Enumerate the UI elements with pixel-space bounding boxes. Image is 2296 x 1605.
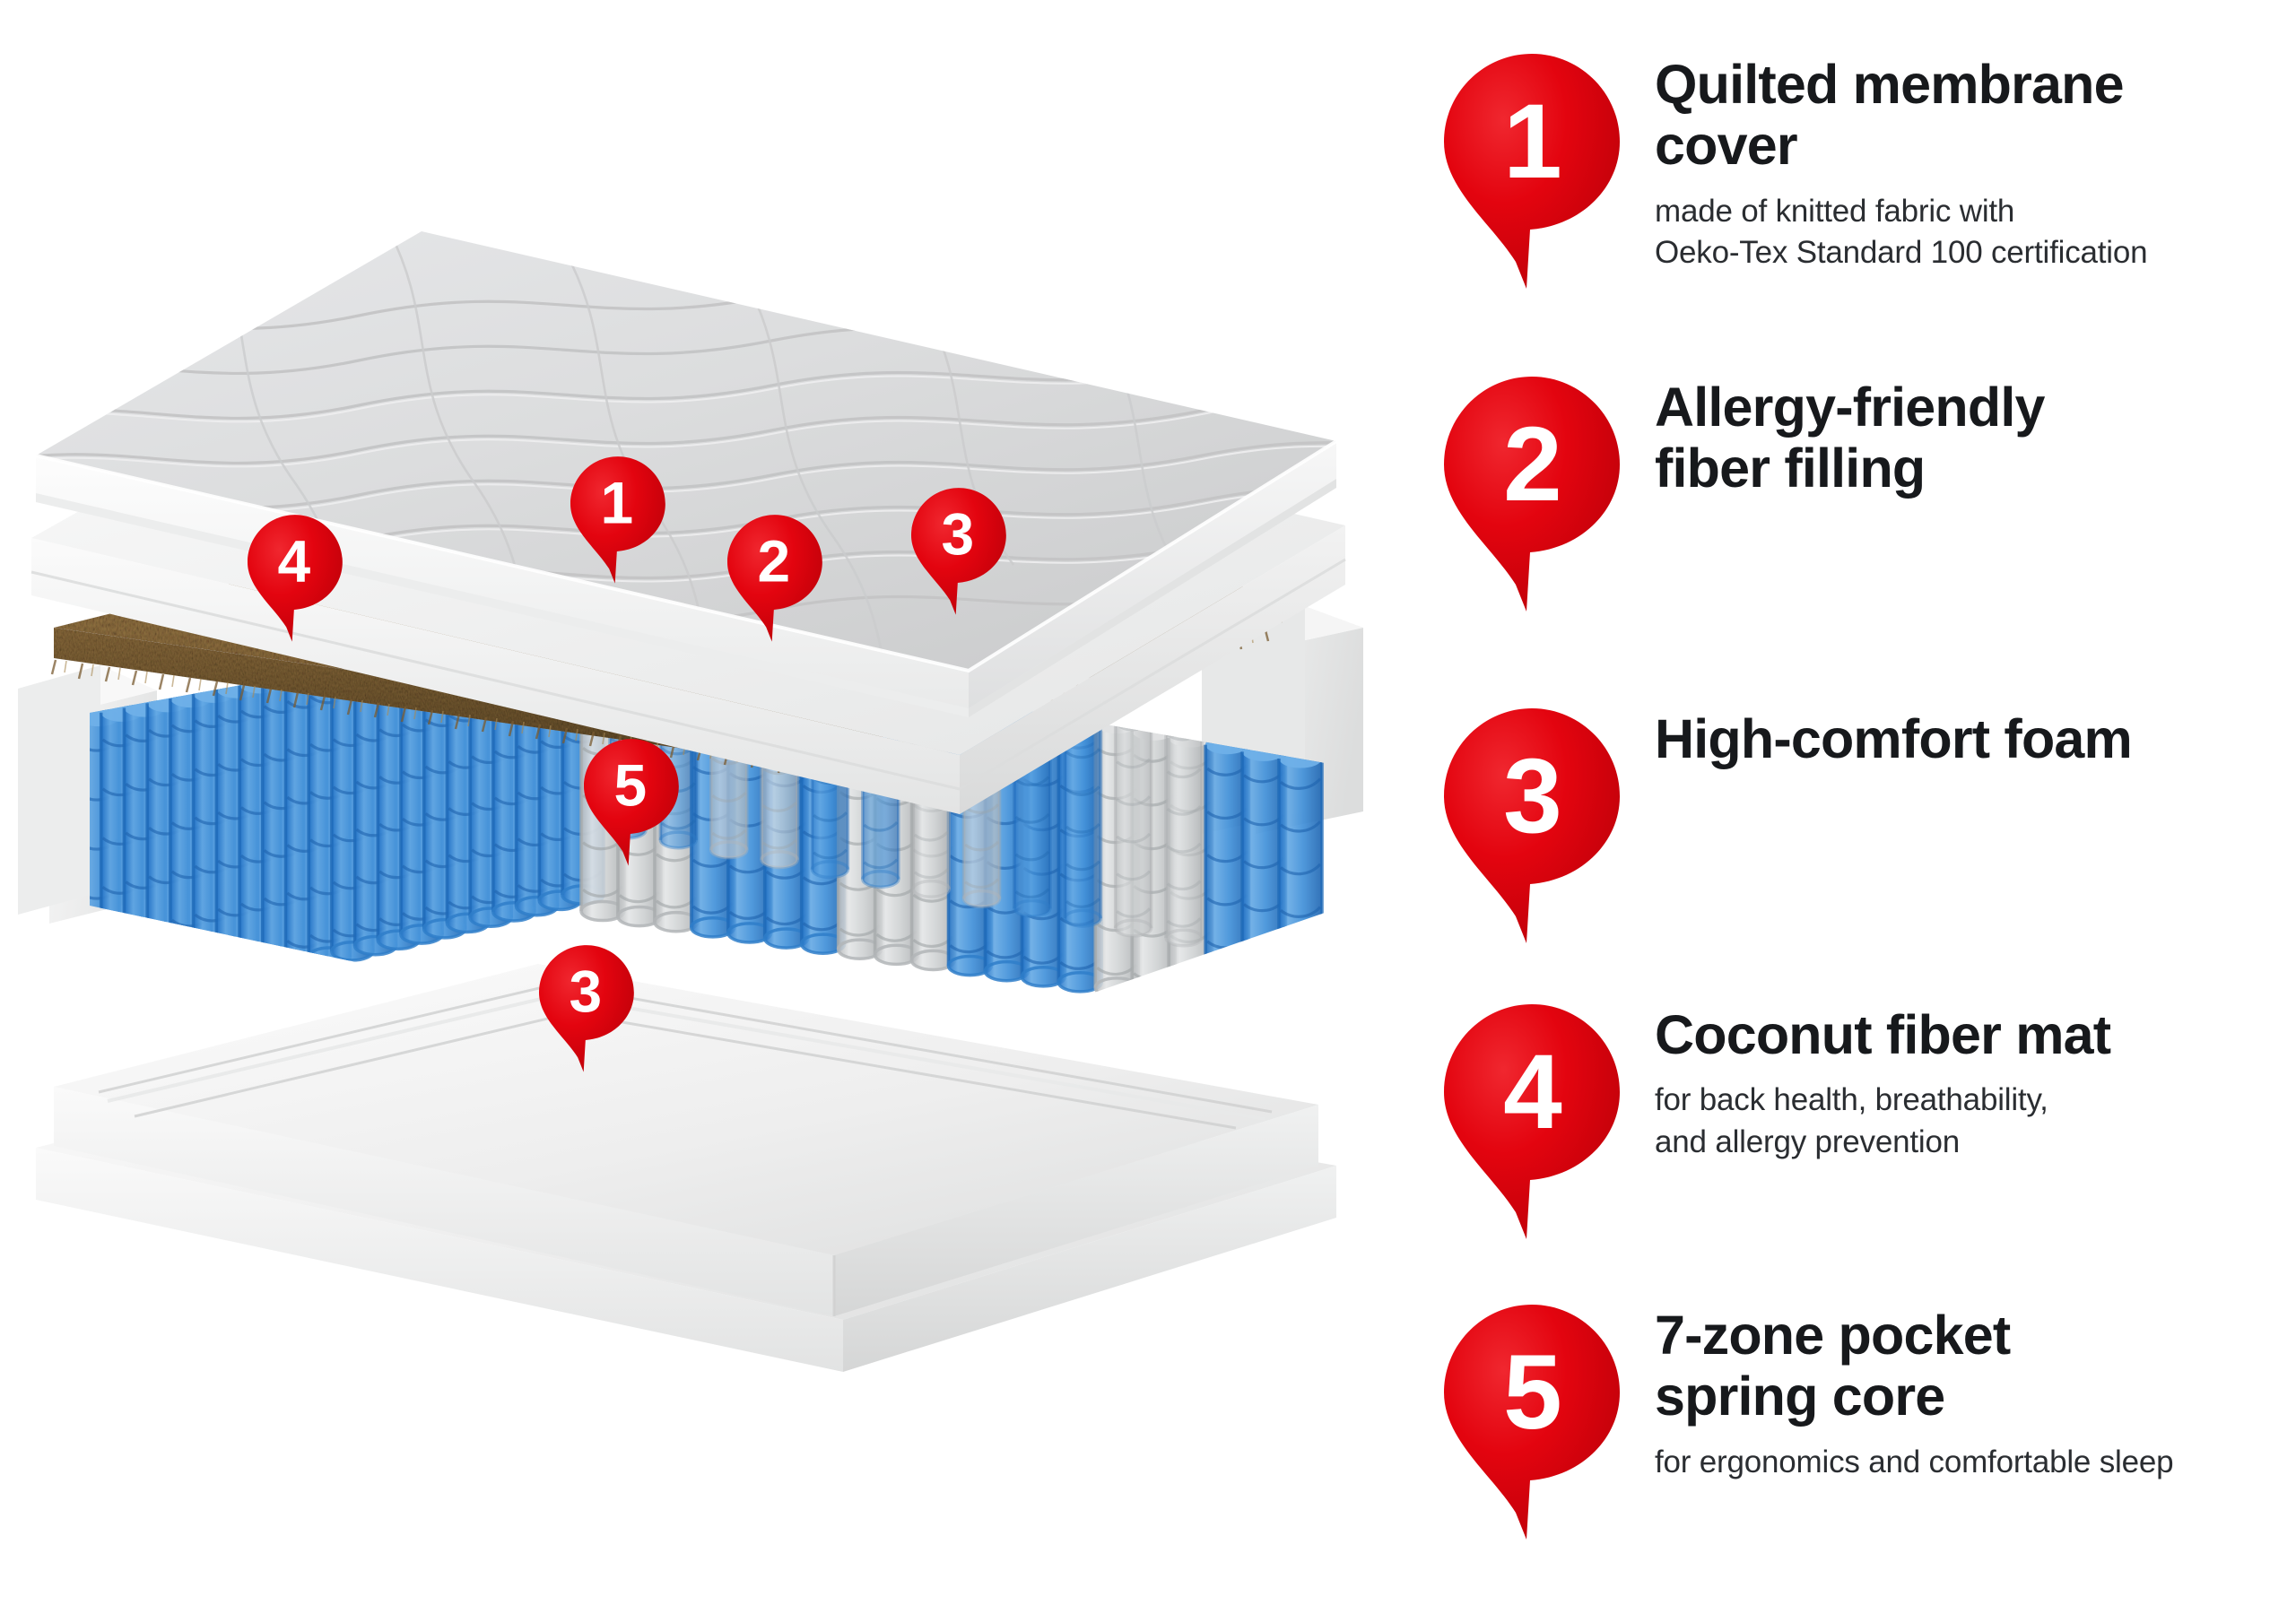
- illustration-marker-4[interactable]: 4: [248, 515, 344, 646]
- legend-title: 7-zone pocket spring core: [1655, 1305, 2283, 1427]
- legend-subtitle: for back health, breathability, and alle…: [1655, 1080, 2283, 1163]
- legend-subtitle: for ergonomics and comfortable sleep: [1655, 1442, 2283, 1484]
- legend-title: High-comfort foam: [1655, 708, 2283, 769]
- legend-pin-5: 5: [1444, 1305, 1623, 1547]
- legend-text-block: Allergy-friendly fiber filling: [1655, 377, 2283, 499]
- legend-pin-3: 3: [1444, 708, 1623, 950]
- svg-text:2: 2: [758, 528, 791, 594]
- legend-text-block: Quilted membrane covermade of knitted fa…: [1655, 54, 2283, 274]
- illustration-marker-3[interactable]: 3: [911, 488, 1008, 619]
- legend-title: Quilted membrane cover: [1655, 54, 2283, 177]
- legend-text-block: Coconut fiber matfor back health, breath…: [1655, 1004, 2283, 1163]
- legend-title: Allergy-friendly fiber filling: [1655, 377, 2283, 499]
- illustration-marker-5[interactable]: 5: [584, 739, 681, 870]
- illustration-marker-2[interactable]: 2: [727, 515, 824, 646]
- legend-pin-4: 4: [1444, 1004, 1623, 1246]
- svg-text:3: 3: [570, 959, 603, 1025]
- svg-text:3: 3: [942, 501, 975, 568]
- legend-title: Coconut fiber mat: [1655, 1004, 2283, 1065]
- infographic-root: 123453 1Quilted membrane covermade of kn…: [0, 0, 2296, 1605]
- svg-text:4: 4: [278, 528, 311, 594]
- mattress-illustration: 123453: [0, 0, 1435, 1605]
- legend-pin-2: 2: [1444, 377, 1623, 619]
- layer-base-foam: [36, 964, 1336, 1372]
- legend-list: 1Quilted membrane covermade of knitted f…: [1435, 0, 2296, 1605]
- illustration-marker-1[interactable]: 1: [570, 456, 667, 587]
- legend-pin-1: 1: [1444, 54, 1623, 296]
- svg-text:5: 5: [614, 752, 648, 819]
- legend-subtitle: made of knitted fabric with Oeko-Tex Sta…: [1655, 191, 2283, 274]
- legend-text-block: High-comfort foam: [1655, 708, 2283, 769]
- legend-text-block: 7-zone pocket spring corefor ergonomics …: [1655, 1305, 2283, 1483]
- svg-text:1: 1: [601, 470, 634, 536]
- illustration-marker-3[interactable]: 3: [539, 945, 636, 1076]
